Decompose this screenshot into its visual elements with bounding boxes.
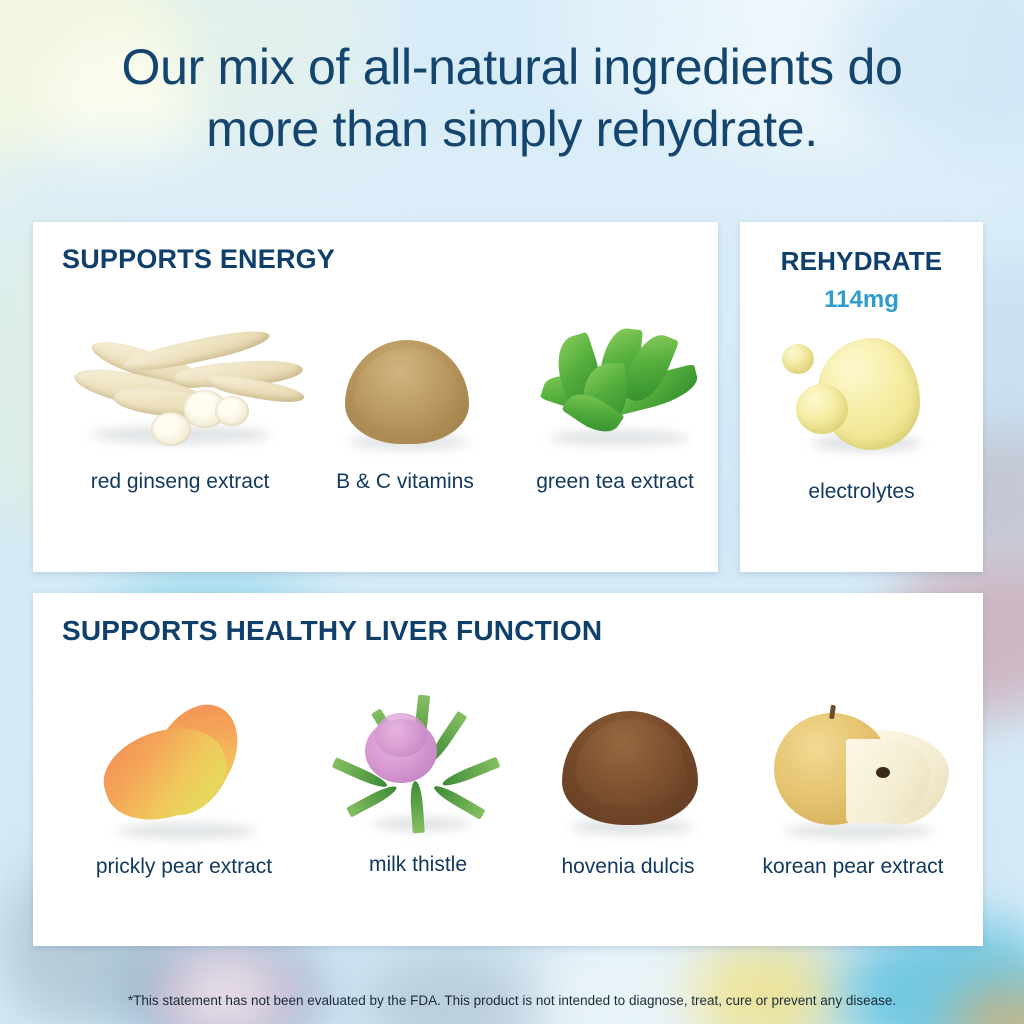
card-title-supports-healthy-liver-function: SUPPORTS HEALTHY LIVER FUNCTION: [62, 615, 602, 647]
green-tea-leaves-icon: [505, 312, 725, 462]
ingredient-b-and-c-vitamins: B & C vitamins: [305, 318, 505, 468]
ingredient-label: red ginseng extract: [91, 470, 270, 494]
ingredient-label: green tea extract: [536, 470, 694, 494]
page-title: Our mix of all-natural ingredients do mo…: [0, 36, 1024, 160]
ingredient-label: korean pear extract: [763, 855, 944, 879]
headline-line-1: Our mix of all-natural ingredients do: [0, 36, 1024, 98]
hovenia-powder-icon: [528, 693, 728, 843]
ingredient-label: prickly pear extract: [96, 855, 272, 879]
milk-thistle-flower-icon: [323, 689, 513, 839]
card-title-rehydrate: REHYDRATE: [740, 246, 983, 277]
card-supports-energy: SUPPORTS ENERGY red ginseng extract B & …: [33, 222, 718, 572]
ingredient-label: milk thistle: [369, 853, 467, 877]
prickly-pear-icon: [59, 693, 309, 843]
ingredient-red-ginseng-extract: red ginseng extract: [55, 318, 305, 468]
ingredient-label: hovenia dulcis: [561, 855, 694, 879]
fda-disclaimer: *This statement has not been evaluated b…: [0, 993, 1024, 1008]
headline-line-2: more than simply rehydrate.: [0, 98, 1024, 160]
ginseng-root-icon: [55, 318, 305, 468]
rehydrate-amount: 114mg: [740, 286, 983, 314]
ingredient-label: electrolytes: [808, 480, 914, 504]
ingredient-electrolytes: electrolytes: [740, 322, 983, 472]
electrolyte-droplets-icon: [740, 322, 983, 472]
ingredient-milk-thistle: milk thistle: [323, 689, 513, 839]
card-supports-healthy-liver-function: SUPPORTS HEALTHY LIVER FUNCTION prickly …: [33, 593, 983, 946]
korean-pear-icon: [738, 693, 968, 843]
ingredient-korean-pear-extract: korean pear extract: [738, 693, 968, 843]
ingredient-hovenia-dulcis: hovenia dulcis: [528, 693, 728, 843]
card-title-supports-energy: SUPPORTS ENERGY: [62, 244, 335, 275]
ingredient-label: B & C vitamins: [336, 470, 474, 494]
ingredient-green-tea-extract: green tea extract: [505, 312, 725, 462]
ingredient-prickly-pear-extract: prickly pear extract: [59, 693, 309, 843]
vitamin-powder-icon: [305, 318, 505, 468]
card-rehydrate: REHYDRATE 114mg electrolytes: [740, 222, 983, 572]
